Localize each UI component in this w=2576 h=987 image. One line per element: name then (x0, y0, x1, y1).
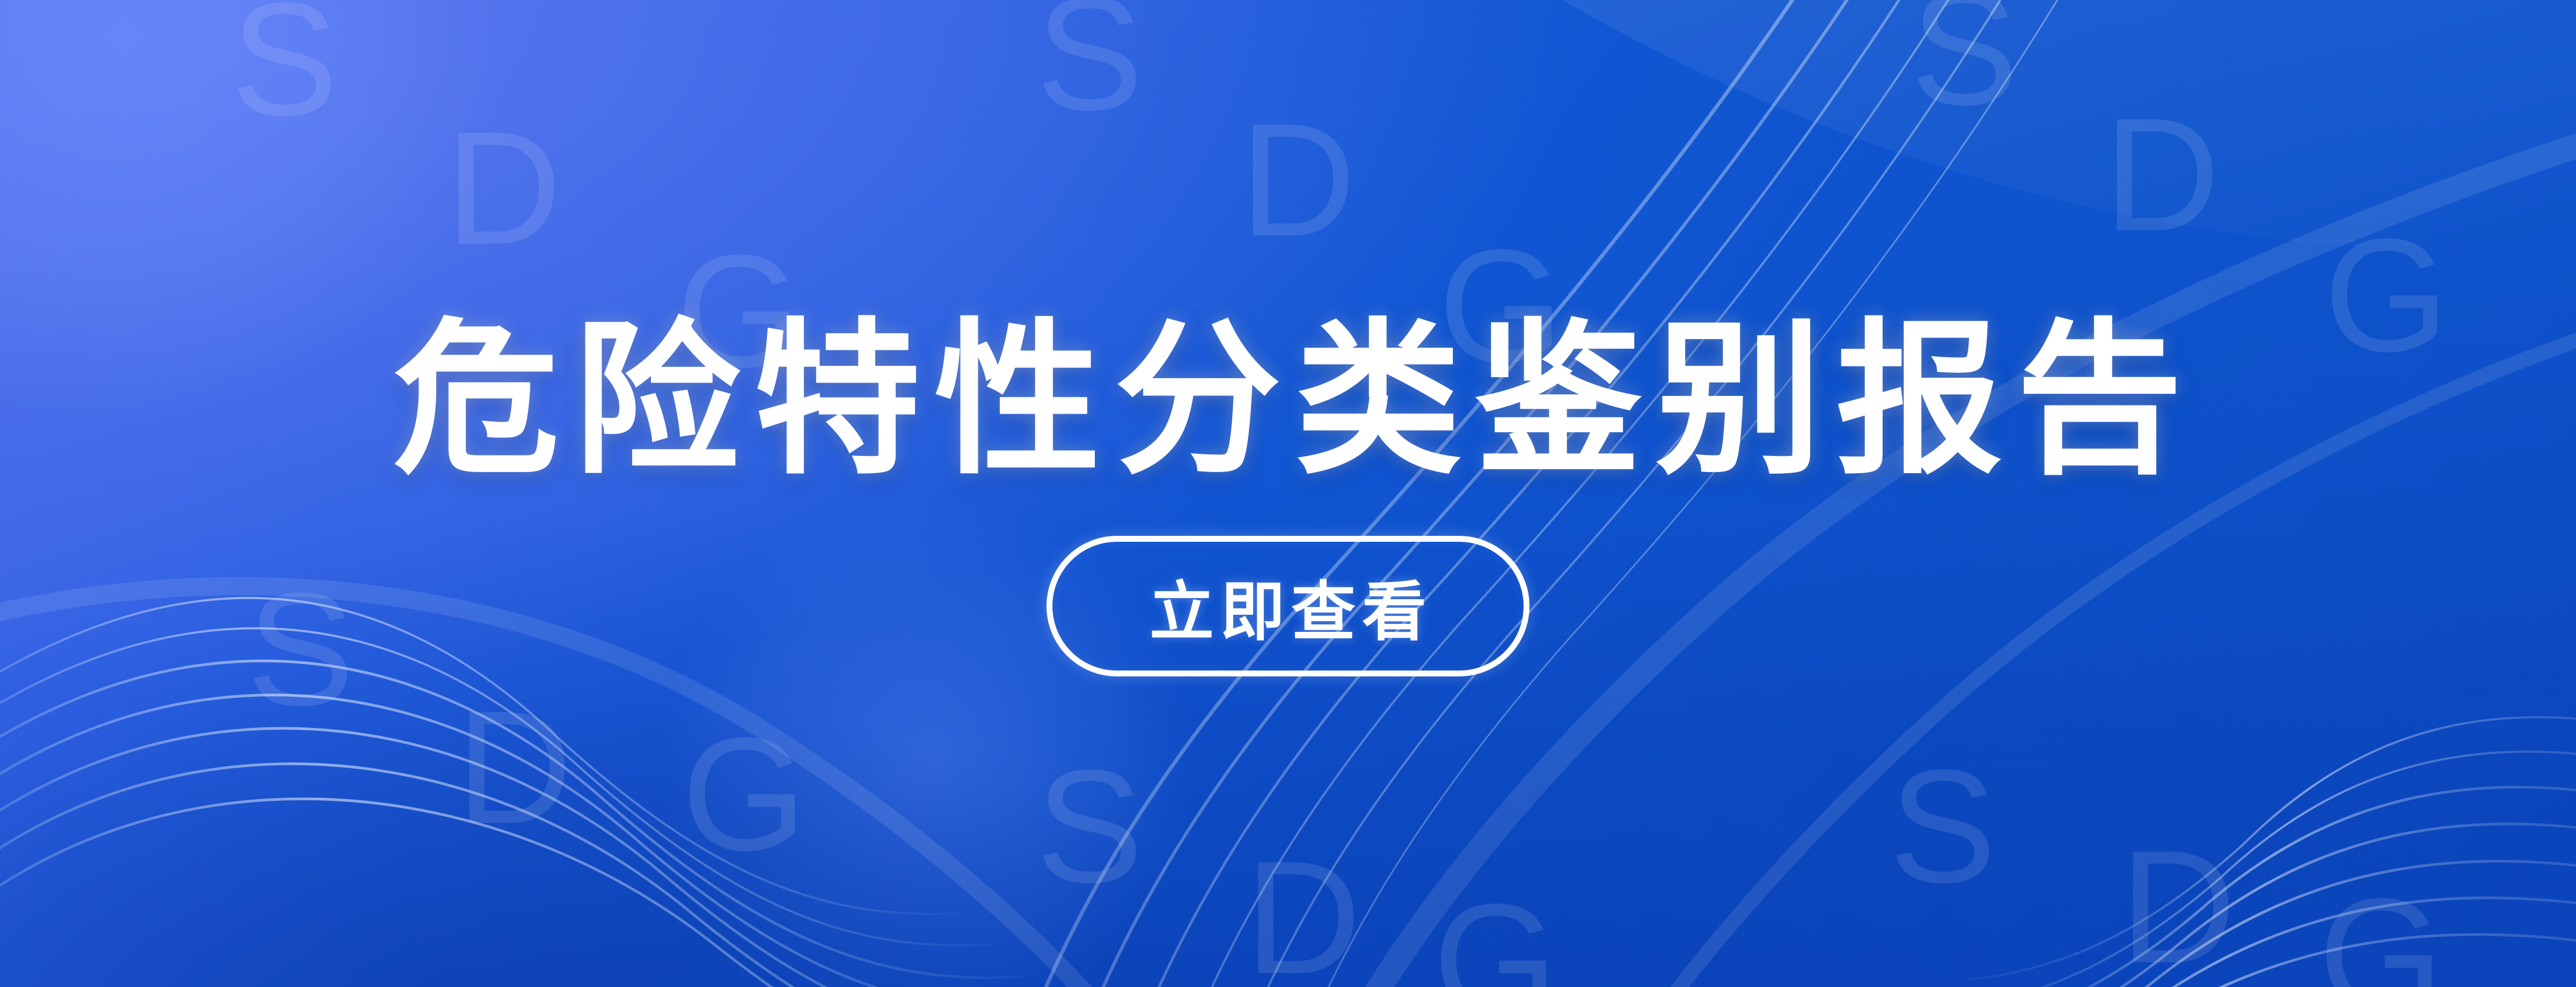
promo-banner: SSSDDDGGGSSDDDGGGS (0, 0, 2576, 987)
page-title: 危险特性分类鉴别报告 (379, 311, 2197, 490)
view-now-button-label: 立即查看 (1143, 559, 1433, 653)
banner-content: 危险特性分类鉴别报告 立即查看 (0, 0, 2576, 987)
view-now-button[interactable]: 立即查看 (1046, 536, 1529, 676)
